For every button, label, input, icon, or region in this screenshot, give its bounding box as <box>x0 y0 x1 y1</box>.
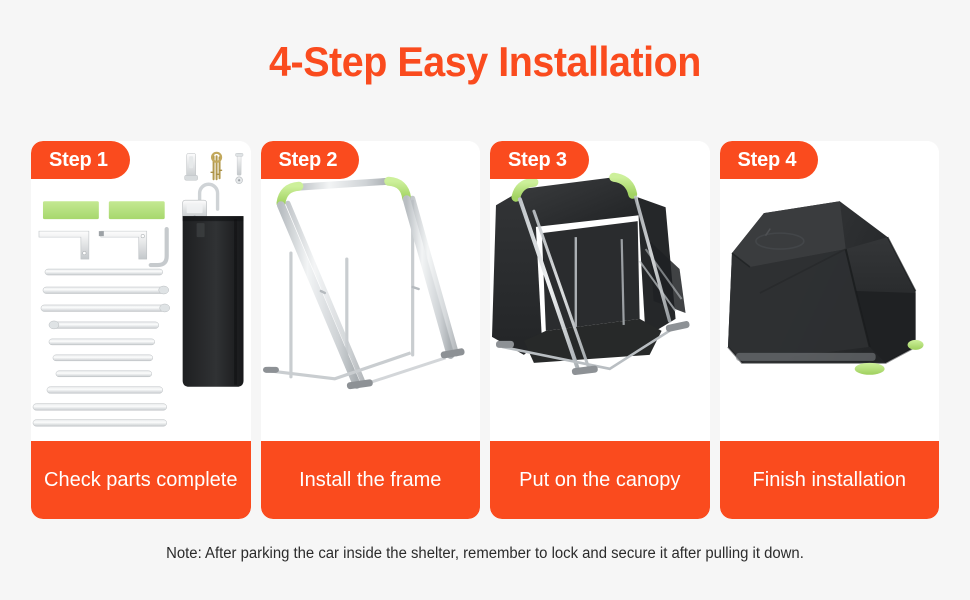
step-card-4[interactable]: Step 4 <box>720 141 940 519</box>
footer-note: Note: After parking the car inside the s… <box>19 545 950 563</box>
step-badge-4: Step 4 <box>720 141 819 179</box>
step-caption-4: Finish installation <box>720 441 940 519</box>
assembled-frame-illustration <box>261 141 481 441</box>
step-badge-2: Step 2 <box>261 141 360 179</box>
installation-infographic: 4-Step Easy Installation Step 1 <box>0 0 970 600</box>
step-caption-3: Put on the canopy <box>490 441 710 519</box>
step-card-1[interactable]: Step 1 <box>31 141 251 519</box>
step-card-2[interactable]: Step 2 <box>261 141 481 519</box>
page-title: 4-Step Easy Installation <box>29 38 941 86</box>
finished-shelter-illustration <box>720 141 940 441</box>
parts-layout-illustration <box>31 141 251 441</box>
step-badge-3: Step 3 <box>490 141 589 179</box>
canopy-on-frame-illustration <box>490 141 710 441</box>
step-card-3[interactable]: Step 3 <box>490 141 710 519</box>
step-badge-1: Step 1 <box>31 141 130 179</box>
step-caption-1: Check parts complete <box>31 441 251 519</box>
steps-row: Step 1 <box>31 141 939 519</box>
step-caption-2: Install the frame <box>261 441 481 519</box>
